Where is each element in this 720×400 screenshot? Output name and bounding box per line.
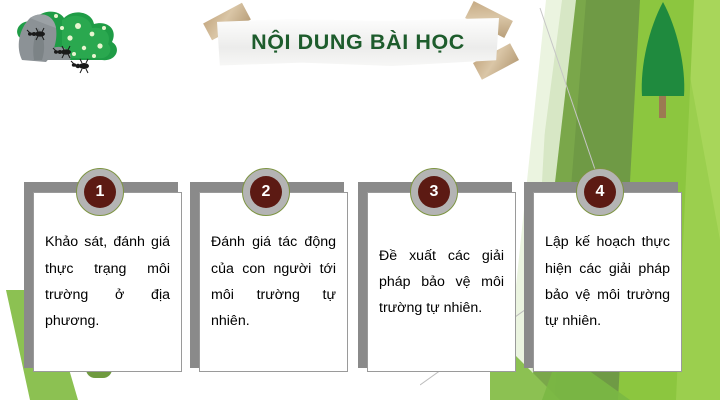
card-number-label: 1 [84,176,116,208]
card-text: Đánh giá tác động của con người tới môi … [200,229,347,334]
ant-3 [71,59,89,73]
content-card-3[interactable]: Đề xuất các giải pháp bảo vệ môi trường … [358,182,518,374]
card-text: Đề xuất các giải pháp bảo vệ môi trường … [368,243,515,322]
card-number-badge: 4 [576,168,624,216]
card-frame-left [524,182,533,368]
card-number-label: 2 [250,176,282,208]
card-text: Lập kế hoạch thực hiện các giải pháp bảo… [534,229,681,334]
rocks-bush-ants-illustration [4,4,144,92]
card-body: Đề xuất các giải pháp bảo vệ môi trường … [367,192,516,372]
card-number-label: 4 [584,176,616,208]
card-frame-left [358,182,367,368]
content-card-1[interactable]: Khảo sát, đánh giá thực trạng môi trường… [24,182,184,374]
card-frame-left [190,182,199,368]
card-number-badge: 3 [410,168,458,216]
card-number-badge: 2 [242,168,290,216]
content-card-2[interactable]: Đánh giá tác động của con người tới môi … [190,182,350,374]
card-frame-left [24,182,33,368]
title-banner: NỘI DUNG BÀI HỌC [203,8,513,76]
card-body: Lập kế hoạch thực hiện các giải pháp bảo… [533,192,682,372]
card-body: Đánh giá tác động của con người tới môi … [199,192,348,372]
card-text: Khảo sát, đánh giá thực trạng môi trường… [34,229,181,334]
page-title: NỘI DUNG BÀI HỌC [217,18,499,66]
card-number-label: 3 [418,176,450,208]
slide-canvas: NỘI DUNG BÀI HỌC Khảo sát, đánh giá thực… [0,0,720,400]
pine-tree-icon [628,0,698,130]
content-card-4[interactable]: Lập kế hoạch thực hiện các giải pháp bảo… [524,182,684,374]
card-number-badge: 1 [76,168,124,216]
card-body: Khảo sát, đánh giá thực trạng môi trường… [33,192,182,372]
